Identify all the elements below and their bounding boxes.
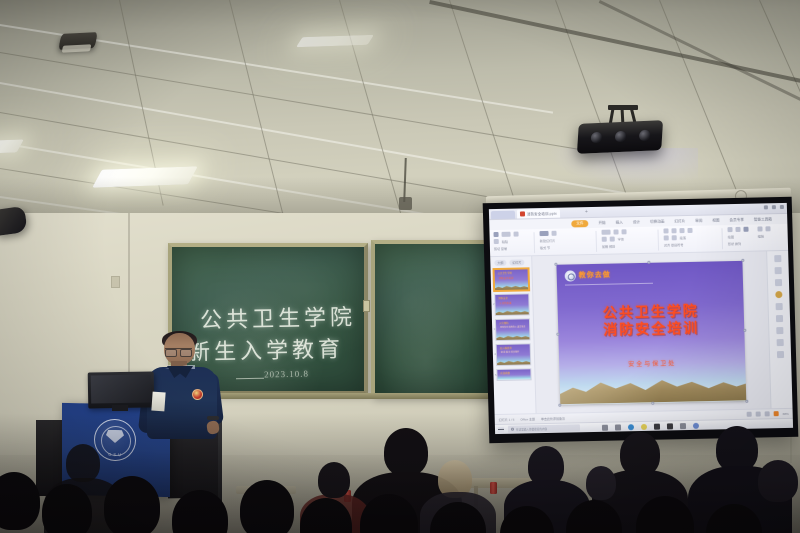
selection-handle[interactable] bbox=[651, 401, 654, 404]
presentation-file-icon bbox=[520, 211, 525, 216]
new-tab-button[interactable]: + bbox=[585, 209, 588, 215]
browser-icon[interactable] bbox=[693, 422, 699, 428]
mail-icon[interactable] bbox=[641, 423, 647, 429]
ribbon-tab-8[interactable]: 会员专享 bbox=[729, 217, 744, 222]
slide-thumbnail-4[interactable]: 灭火器使用 提 拔 握 压 四步操作 bbox=[496, 343, 532, 366]
pane-effects-icon[interactable] bbox=[777, 339, 784, 346]
thumb-2-body: 火灾的危害 bbox=[499, 301, 525, 305]
slide-thumbnail-3[interactable]: 火灾预防 用电安全 宿舍防火 逃生常识 bbox=[495, 318, 531, 341]
selection-handle[interactable] bbox=[647, 260, 650, 263]
paper-sheet bbox=[151, 392, 165, 412]
eyeglasses-icon bbox=[165, 348, 192, 354]
pane-color-icon[interactable] bbox=[775, 291, 782, 298]
slide-thumbnail-5[interactable]: 应急疏散 bbox=[496, 368, 531, 381]
ribbon-group-paste[interactable]: 粘贴 剪切 复制 bbox=[493, 232, 519, 252]
chalkboard-right-panel bbox=[371, 240, 500, 398]
selection-handle[interactable] bbox=[745, 399, 748, 402]
view-sorter-icon[interactable] bbox=[756, 412, 761, 417]
ribbon-group-4-sub: 形状 排列 bbox=[728, 241, 741, 246]
pane-layout-icon[interactable] bbox=[774, 255, 781, 262]
ribbon-tab-4[interactable]: 切换动画 bbox=[650, 219, 665, 224]
thumb-3-body: 用电安全 宿舍防火 逃生常识 bbox=[500, 326, 526, 329]
projected-desktop: 消防安全培训.pptx + 文件 开始 插入 设计 切换动画 幻灯片 审阅 视图 bbox=[489, 203, 793, 434]
ribbon-group-2-sub: 加粗 倾斜 bbox=[602, 244, 615, 249]
slide-title: 公共卫生学院 消防安全培训 bbox=[558, 302, 745, 340]
selection-handle[interactable] bbox=[558, 403, 561, 406]
ribbon-group-drawing[interactable]: 绘图 形状 排列 bbox=[727, 227, 749, 246]
thumb-5-title: 应急疏散 bbox=[500, 371, 510, 375]
pane-shape-icon[interactable] bbox=[775, 279, 782, 286]
slide-logo-text: 教你去做 bbox=[579, 270, 611, 281]
wristwatch-icon bbox=[207, 416, 219, 420]
ribbon-group-5-label: 编辑 bbox=[758, 233, 764, 238]
slide-logo: 教你去做 bbox=[565, 269, 611, 281]
slide-thumbnail-1[interactable]: 公共卫生学院 消防安全培训 bbox=[494, 268, 530, 291]
ribbon-group-1-sub: 版式 节 bbox=[540, 245, 550, 250]
ceiling-projector bbox=[577, 120, 663, 154]
university-seal-icon bbox=[565, 270, 576, 281]
presenter-badge bbox=[192, 389, 203, 400]
ribbon-tab-0[interactable]: 文件 bbox=[571, 220, 588, 227]
ribbon-group-4-label: 绘图 bbox=[728, 234, 734, 239]
wps-icon[interactable] bbox=[680, 423, 686, 429]
status-theme: Office 主题 bbox=[520, 417, 535, 421]
podium-seal-text: C S U bbox=[95, 452, 135, 458]
taskbar-search-placeholder: 在这里输入你要搜索的内容 bbox=[516, 426, 547, 431]
lecture-hall-photo: 公共卫生学院 新生入学教育 2023.10.8 消防安全培训.pptx + bbox=[0, 0, 800, 533]
thumb-3-title: 火灾预防 bbox=[499, 321, 509, 325]
status-zoom-level: 68% bbox=[783, 411, 789, 415]
ribbon-group-0-label: 粘贴 bbox=[502, 239, 508, 244]
thumb-1-body: 消防安全培训 bbox=[499, 276, 525, 280]
slide-thumbnail-2[interactable]: 消防安全 火灾的危害 bbox=[494, 293, 530, 316]
ribbon-group-editing[interactable]: 编辑 bbox=[757, 226, 770, 238]
right-task-pane[interactable] bbox=[766, 251, 792, 408]
ppt-document-tab[interactable]: 消防安全培训.pptx bbox=[517, 209, 560, 219]
ribbon-tab-3[interactable]: 设计 bbox=[633, 219, 640, 224]
thumb-2-title: 消防安全 bbox=[498, 296, 508, 300]
ppt-document-tab-label: 消防安全培训.pptx bbox=[527, 211, 557, 217]
close-icon[interactable] bbox=[780, 205, 784, 209]
task-view-icon[interactable] bbox=[602, 424, 608, 430]
thumb-1-title: 公共卫生学院 bbox=[498, 271, 512, 275]
ribbon-group-paragraph[interactable]: 段落 对齐 项目符号 bbox=[663, 228, 693, 248]
selection-handle[interactable] bbox=[743, 328, 746, 331]
presenter-hand bbox=[206, 420, 220, 435]
search-icon bbox=[511, 428, 514, 431]
selection-handle[interactable] bbox=[554, 262, 557, 265]
current-slide[interactable]: 教你去做 公共卫生学院 消防安全培训 安全与保卫处 bbox=[556, 260, 746, 404]
presenter bbox=[145, 333, 225, 443]
ppt-app-chip[interactable] bbox=[491, 210, 515, 218]
slide-title-line-2: 消防安全培训 bbox=[558, 319, 744, 340]
university-emblem: C S U bbox=[94, 419, 136, 462]
file-explorer-icon[interactable] bbox=[654, 423, 660, 429]
slide-editing-area[interactable]: 教你去做 公共卫生学院 消防安全培训 安全与保卫处 bbox=[532, 251, 770, 413]
pane-more-icon[interactable] bbox=[777, 351, 784, 358]
ribbon-group-0-sub: 剪切 复制 bbox=[494, 246, 507, 251]
status-slide-counter: 幻灯片 1 / 5 bbox=[499, 417, 515, 421]
thumb-4-body: 提 拔 握 压 四步操作 bbox=[501, 351, 527, 354]
chalkboard-date: 2023.10.8 bbox=[264, 369, 309, 380]
view-reading-icon[interactable] bbox=[765, 411, 770, 416]
ribbon-tab-1[interactable]: 开始 bbox=[598, 220, 605, 225]
ceiling-mount-box bbox=[399, 197, 412, 210]
slide-thumbnail-panel[interactable]: 大纲 幻灯片 1 公共卫生学院 消防安全培训 2 消防安全 火灾的危害 bbox=[490, 256, 536, 414]
ceiling-light-panel-far bbox=[296, 35, 374, 47]
thumb-4-title: 灭火器使用 bbox=[500, 346, 512, 350]
pane-chart-icon[interactable] bbox=[776, 315, 783, 322]
taskbar-search-input[interactable]: 在这里输入你要搜索的内容 bbox=[508, 424, 580, 433]
edge-browser-icon[interactable] bbox=[628, 424, 634, 430]
chalkboard-latch[interactable] bbox=[363, 300, 370, 312]
ribbon-group-3-label: 段落 bbox=[680, 235, 686, 240]
ribbon-group-newslide[interactable]: 新建幻灯片 版式 节 bbox=[539, 231, 557, 250]
pane-media-icon[interactable] bbox=[776, 327, 783, 334]
podium-base bbox=[36, 420, 62, 496]
slideshow-play-icon[interactable] bbox=[774, 411, 779, 416]
ceiling-speaker-icon bbox=[58, 32, 98, 50]
ribbon-group-1-label: 新建幻灯片 bbox=[540, 238, 556, 243]
windows-start-icon[interactable] bbox=[498, 426, 504, 432]
projection-screen: 消防安全培训.pptx + 文件 开始 插入 设计 切换动画 幻灯片 审阅 视图 bbox=[483, 197, 799, 443]
ribbon-tab-6[interactable]: 审阅 bbox=[695, 218, 702, 223]
ribbon-tab-9[interactable]: 智能工具箱 bbox=[754, 217, 772, 222]
outline-tab[interactable]: 大纲 bbox=[494, 260, 506, 266]
ribbon-group-2-label: 字体 bbox=[618, 236, 624, 241]
podium-monitor bbox=[88, 371, 155, 408]
ribbon-tab-5[interactable]: 幻灯片 bbox=[674, 219, 685, 224]
pane-text-icon[interactable] bbox=[775, 267, 782, 274]
slides-tab[interactable]: 幻灯片 bbox=[509, 259, 524, 265]
wall-outlet bbox=[111, 276, 120, 288]
ribbon-tab-2[interactable]: 插入 bbox=[616, 220, 623, 225]
store-icon[interactable] bbox=[667, 423, 673, 429]
minimize-icon[interactable] bbox=[764, 205, 768, 209]
selection-handle[interactable] bbox=[556, 332, 559, 335]
view-normal-icon[interactable] bbox=[747, 412, 752, 417]
window-controls[interactable] bbox=[764, 205, 784, 209]
slide-subtitle: 安全与保卫处 bbox=[559, 356, 745, 369]
status-notes-hint: 单击此处添加备注 bbox=[541, 416, 565, 421]
maximize-icon[interactable] bbox=[772, 205, 776, 209]
taskbar-app-icons bbox=[602, 422, 699, 430]
ribbon-group-font[interactable]: 字体 加粗 倾斜 bbox=[601, 229, 627, 249]
selection-handle[interactable] bbox=[741, 258, 744, 261]
ribbon-group-3-sub: 对齐 项目符号 bbox=[664, 242, 684, 247]
cortana-icon[interactable] bbox=[615, 424, 621, 430]
ribbon-tab-7[interactable]: 视图 bbox=[712, 218, 719, 223]
pane-image-icon[interactable] bbox=[776, 303, 783, 310]
chalkboard-line-1: 公共卫生学院 bbox=[200, 299, 357, 334]
